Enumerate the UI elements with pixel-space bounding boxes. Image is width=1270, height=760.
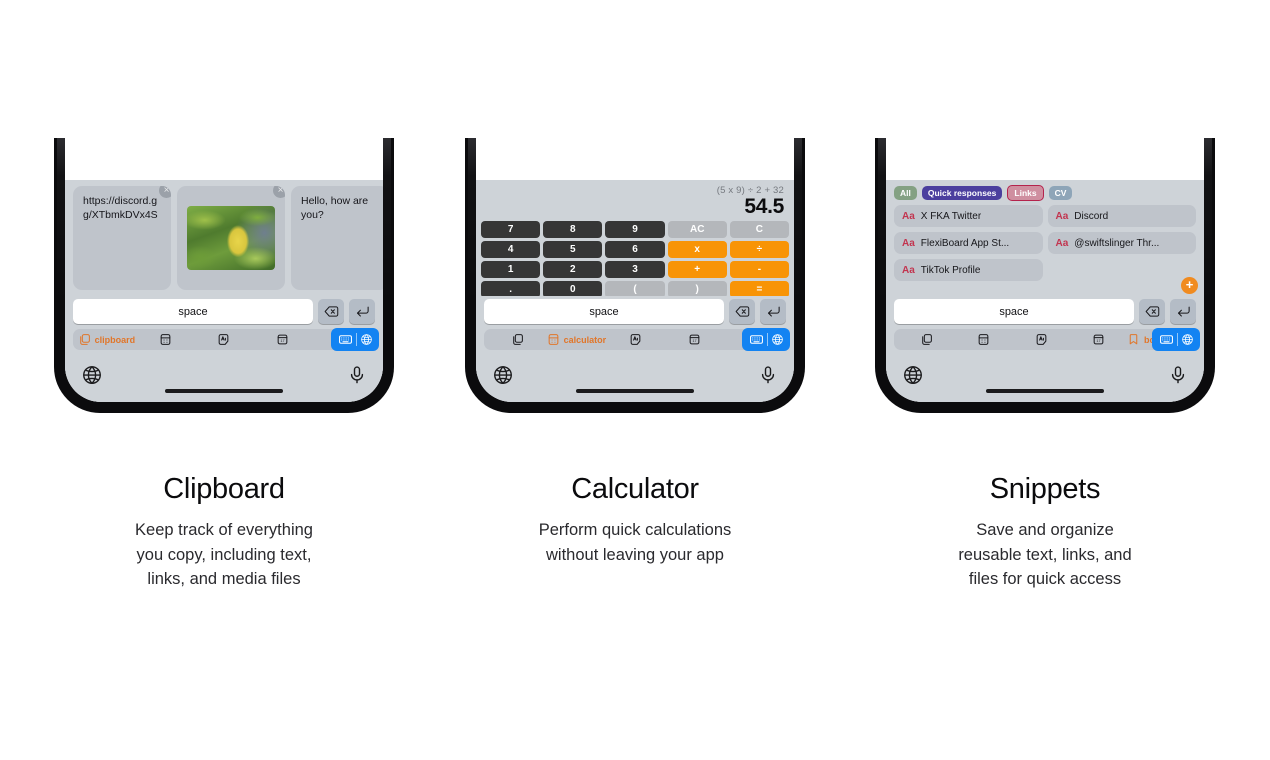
calculator-key-)[interactable]: ): [668, 281, 727, 296]
return-key[interactable]: [760, 299, 786, 324]
feature-panel-snippets: AllQuick responsesLinksCVAaX FKA Twitter…: [875, 138, 1215, 592]
calculator-key-AC[interactable]: AC: [668, 221, 727, 238]
snippet-list-item[interactable]: AaTikTok Profile: [894, 259, 1043, 281]
keyboard-bottom-row: [886, 354, 1204, 402]
globe-icon[interactable]: [771, 333, 784, 346]
calendar-icon: 17: [276, 333, 289, 346]
app-content-snippets: AllQuick responsesLinksCVAaX FKA Twitter…: [886, 180, 1204, 296]
app-toolbar-item-calculator[interactable]: calculator: [547, 329, 607, 350]
home-indicator[interactable]: [165, 389, 283, 393]
backspace-key[interactable]: [729, 299, 755, 324]
snippet-filter-chip[interactable]: Links: [1007, 185, 1043, 201]
calculator-icon: [547, 333, 560, 346]
microphone-icon[interactable]: [347, 364, 367, 386]
clipboard-card-text: Hello, how are you?: [301, 195, 379, 222]
clipboard-icon: [511, 333, 524, 346]
text-format-icon: Aa: [1056, 238, 1069, 249]
keyboard-switch-button[interactable]: [1152, 328, 1200, 351]
return-icon: [1176, 304, 1191, 319]
space-key[interactable]: space: [894, 299, 1134, 324]
calculator-key-([interactable]: (: [605, 281, 664, 296]
return-key[interactable]: [1170, 299, 1196, 324]
space-key[interactable]: space: [73, 299, 313, 324]
app-content-clipboard: https://discord.gg/XTbmkDVx4S××Hello, ho…: [65, 180, 383, 296]
snippet-label: Discord: [1074, 211, 1108, 222]
feature-title: Calculator: [571, 473, 699, 506]
globe-icon[interactable]: [360, 333, 373, 346]
calculator-key-3[interactable]: 3: [605, 261, 664, 278]
calculator-display: (5 x 9) ÷ 2 + 3254.5: [476, 180, 794, 221]
feature-description: Keep track of everythingyou copy, includ…: [135, 518, 313, 592]
backspace-key[interactable]: [318, 299, 344, 324]
app-toolbar-item-calculator[interactable]: [136, 329, 195, 350]
feature-title: Clipboard: [163, 473, 284, 506]
phone-frame: (5 x 9) ÷ 2 + 3254.5789ACC456x÷123+-.0()…: [465, 138, 805, 413]
calculator-key-+[interactable]: +: [668, 261, 727, 278]
keyboard-switch-button[interactable]: [331, 328, 379, 351]
return-icon: [355, 304, 370, 319]
feature-description-line: links, and media files: [135, 567, 313, 592]
snippet-filter-chip[interactable]: All: [894, 186, 917, 200]
add-snippet-button[interactable]: +: [1181, 277, 1198, 294]
feature-description-line: you copy, including text,: [135, 543, 313, 568]
text-format-icon: Aa: [902, 238, 915, 249]
snippet-label: TikTok Profile: [921, 265, 981, 276]
app-toolbar: clipboard17: [73, 329, 375, 350]
snippet-list-item[interactable]: AaFlexiBoard App St...: [894, 232, 1043, 254]
app-toolbar-item-label: calculator: [564, 335, 607, 345]
keyboard: https://discord.gg/XTbmkDVx4S××Hello, ho…: [65, 180, 383, 402]
close-icon[interactable]: ×: [273, 186, 285, 198]
clipboard-icon: [920, 333, 933, 346]
keyboard-bottom-row: [476, 354, 794, 402]
clipboard-card-list: https://discord.gg/XTbmkDVx4S××Hello, ho…: [65, 180, 383, 296]
snippet-list-item[interactable]: AaDiscord: [1048, 205, 1197, 227]
backspace-icon: [1145, 304, 1160, 319]
app-toolbar-item-clipboard[interactable]: [488, 329, 547, 350]
switch-divider: [767, 333, 768, 346]
svg-text:17: 17: [692, 339, 696, 343]
clipboard-card-text: https://discord.gg/XTbmkDVx4S: [83, 195, 161, 222]
globe-icon[interactable]: [902, 364, 924, 386]
snippet-filter-chip[interactable]: Quick responses: [922, 186, 1003, 200]
calculator-icon: [159, 333, 172, 346]
svg-text:17: 17: [1096, 339, 1100, 343]
calculator-key-.[interactable]: .: [481, 281, 540, 296]
feature-description-line: Perform quick calculations: [539, 518, 732, 543]
clipboard-image-preview: [187, 206, 275, 270]
snippet-list-item[interactable]: Aa@swiftslinger Thr...: [1048, 232, 1197, 254]
svg-text:17: 17: [281, 339, 285, 343]
calculator-key-8[interactable]: 8: [543, 221, 602, 238]
app-toolbar-item-dates[interactable]: 17: [253, 329, 312, 350]
app-toolbar-item-dates[interactable]: 17: [665, 329, 724, 350]
text-format-icon: Aa: [902, 265, 915, 276]
keyboard-icon[interactable]: [1159, 332, 1174, 347]
home-indicator[interactable]: [576, 389, 694, 393]
calculator-key-÷[interactable]: ÷: [730, 241, 789, 258]
app-toolbar-item-calculator[interactable]: [955, 329, 1012, 350]
space-row: space: [886, 296, 1204, 327]
globe-icon[interactable]: [1181, 333, 1194, 346]
calculator-key-9[interactable]: 9: [605, 221, 664, 238]
switch-divider: [1177, 333, 1178, 346]
phone-frame: https://discord.gg/XTbmkDVx4S××Hello, ho…: [54, 138, 394, 413]
snippet-label: @swiftslinger Thr...: [1074, 238, 1159, 249]
globe-icon[interactable]: [492, 364, 514, 386]
space-row: space: [476, 296, 794, 327]
clipboard-card[interactable]: https://discord.gg/XTbmkDVx4S×: [73, 186, 171, 290]
app-toolbar-item-clipboard[interactable]: clipboard: [77, 329, 136, 350]
app-toolbar-item-snippets[interactable]: [195, 329, 254, 350]
calculator-key-5[interactable]: 5: [543, 241, 602, 258]
keyboard: (5 x 9) ÷ 2 + 3254.5789ACC456x÷123+-.0()…: [476, 180, 794, 402]
feature-title: Snippets: [990, 473, 1100, 506]
close-icon[interactable]: ×: [159, 186, 171, 198]
calculator-key-=[interactable]: =: [730, 281, 789, 296]
app-toolbar-item-clipboard[interactable]: [898, 329, 955, 350]
keyboard-bottom-row: [65, 354, 383, 402]
calculator-key-4[interactable]: 4: [481, 241, 540, 258]
return-key[interactable]: [349, 299, 375, 324]
feature-description-line: without leaving your app: [539, 543, 732, 568]
calculator-key-0[interactable]: 0: [543, 281, 602, 296]
calculator-key--[interactable]: -: [730, 261, 789, 278]
app-toolbar-item-snippets[interactable]: [606, 329, 665, 350]
keyboard: AllQuick responsesLinksCVAaX FKA Twitter…: [886, 180, 1204, 402]
calculator-key-C[interactable]: C: [730, 221, 789, 238]
feature-panel-calculator: (5 x 9) ÷ 2 + 3254.5789ACC456x÷123+-.0()…: [465, 138, 805, 567]
calculator-key-x[interactable]: x: [668, 241, 727, 258]
snippet-filter-chip[interactable]: CV: [1049, 186, 1073, 200]
clipboard-icon: [78, 333, 91, 346]
snippet-label: FlexiBoard App St...: [921, 238, 1009, 249]
switch-divider: [356, 333, 357, 346]
backspace-key[interactable]: [1139, 299, 1165, 324]
globe-icon[interactable]: [81, 364, 103, 386]
phone-frame: AllQuick responsesLinksCVAaX FKA Twitter…: [875, 138, 1215, 413]
calculator-key-1[interactable]: 1: [481, 261, 540, 278]
feature-description: Save and organizereusable text, links, a…: [958, 518, 1131, 592]
calculator-result: 54.5: [486, 196, 784, 218]
snippet-list: AaX FKA TwitterAaDiscordAaFlexiBoard App…: [886, 205, 1204, 281]
space-key[interactable]: space: [484, 299, 724, 324]
app-toolbar-item-snippets[interactable]: [1013, 329, 1070, 350]
snippets-icon: [217, 333, 230, 346]
text-format-icon: Aa: [1056, 211, 1069, 222]
clipboard-card[interactable]: Hello, how are you?: [291, 186, 383, 290]
feature-description-line: Keep track of everything: [135, 518, 313, 543]
calculator-keypad: 789ACC456x÷123+-.0()=: [476, 221, 794, 296]
feature-description-line: reusable text, links, and: [958, 543, 1131, 568]
keyboard-icon[interactable]: [749, 332, 764, 347]
clipboard-card[interactable]: ×: [177, 186, 285, 290]
backspace-icon: [324, 304, 339, 319]
feature-description-line: Save and organize: [958, 518, 1131, 543]
phone-screen: https://discord.gg/XTbmkDVx4S××Hello, ho…: [65, 138, 383, 402]
calculator-key-2[interactable]: 2: [543, 261, 602, 278]
bookmark-icon: [1127, 333, 1140, 346]
microphone-icon[interactable]: [1168, 364, 1188, 386]
snippet-label: X FKA Twitter: [921, 211, 981, 222]
snippets-icon: [629, 333, 642, 346]
app-content-calculator: (5 x 9) ÷ 2 + 3254.5789ACC456x÷123+-.0()…: [476, 180, 794, 296]
app-toolbar-item-label: clipboard: [95, 335, 136, 345]
feature-description: Perform quick calculationswithout leavin…: [539, 518, 732, 567]
space-row: space: [65, 296, 383, 327]
backspace-icon: [735, 304, 750, 319]
calendar-icon: 17: [688, 333, 701, 346]
feature-description-line: files for quick access: [958, 567, 1131, 592]
feature-panel-clipboard: https://discord.gg/XTbmkDVx4S××Hello, ho…: [54, 138, 394, 592]
calculator-icon: [977, 333, 990, 346]
app-toolbar: 17bookmarks: [894, 329, 1196, 350]
calculator-key-7[interactable]: 7: [481, 221, 540, 238]
promo-screenshot-page: https://discord.gg/XTbmkDVx4S××Hello, ho…: [0, 0, 1270, 760]
keyboard-switch-button[interactable]: [742, 328, 790, 351]
return-icon: [766, 304, 781, 319]
app-toolbar-item-dates[interactable]: 17: [1070, 329, 1127, 350]
microphone-icon[interactable]: [758, 364, 778, 386]
calculator-key-6[interactable]: 6: [605, 241, 664, 258]
phone-screen: (5 x 9) ÷ 2 + 3254.5789ACC456x÷123+-.0()…: [476, 138, 794, 402]
app-toolbar: calculator17: [484, 329, 786, 350]
keyboard-icon[interactable]: [338, 332, 353, 347]
home-indicator[interactable]: [986, 389, 1104, 393]
snippet-list-item[interactable]: AaX FKA Twitter: [894, 205, 1043, 227]
calculator-expression: (5 x 9) ÷ 2 + 32: [486, 185, 784, 196]
snippets-icon: [1035, 333, 1048, 346]
snippet-filter-chips: AllQuick responsesLinksCV: [886, 180, 1204, 205]
text-format-icon: Aa: [902, 211, 915, 222]
phone-screen: AllQuick responsesLinksCVAaX FKA Twitter…: [886, 138, 1204, 402]
calendar-icon: 17: [1092, 333, 1105, 346]
